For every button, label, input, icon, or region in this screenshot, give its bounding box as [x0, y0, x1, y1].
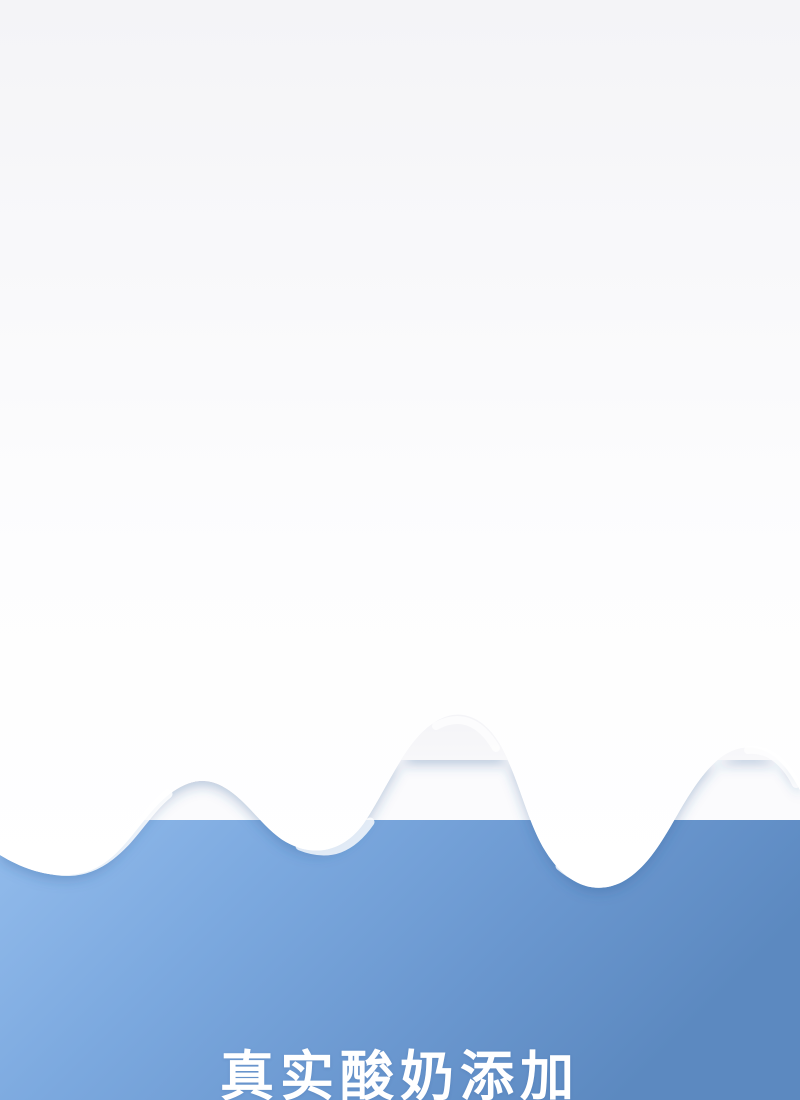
- prebiotic-heading: 益生元: [100, 490, 205, 530]
- prebiotic-bacteria-image: [465, 450, 718, 703]
- prebiotic-description-line-1: β-葡聚糖、乳酸杆菌 为有益: [100, 548, 500, 582]
- probiotic-text-block: 益生菌 （乳酸杆菌发酵溶胞产物） 乳酸杆菌发酵溶胞产物 增加 肌肤有益菌: [368, 150, 788, 276]
- probiotic-heading: 益生菌: [368, 150, 473, 190]
- prebiotic-description-line-2: 菌群提供养分 改善有益菌群: [100, 582, 500, 616]
- prebiotic-heading-row: 益生元: [100, 490, 500, 530]
- probiotic-heading-note: （乳酸杆菌发酵溶胞产物）: [481, 165, 667, 186]
- prebiotic-text-block: 益生元 β-葡聚糖、乳酸杆菌 为有益 菌群提供养分 改善有益菌群: [100, 490, 500, 616]
- bottom-headline: 真实酸奶添加: [0, 1048, 800, 1100]
- probiotic-description-line-2: 肌肤有益菌: [368, 242, 788, 276]
- probiotic-heading-row: 益生菌 （乳酸杆菌发酵溶胞产物）: [368, 150, 788, 190]
- probiotic-bacteria-image: [73, 100, 330, 356]
- probiotic-description-line-1: 乳酸杆菌发酵溶胞产物 增加: [368, 208, 788, 242]
- probiotic-description: 乳酸杆菌发酵溶胞产物 增加 肌肤有益菌: [368, 208, 788, 276]
- poster-canvas: 益生菌 （乳酸杆菌发酵溶胞产物） 乳酸杆菌发酵溶胞产物 增加 肌肤有益菌: [0, 0, 800, 1100]
- prebiotic-description: β-葡聚糖、乳酸杆菌 为有益 菌群提供养分 改善有益菌群: [100, 548, 500, 616]
